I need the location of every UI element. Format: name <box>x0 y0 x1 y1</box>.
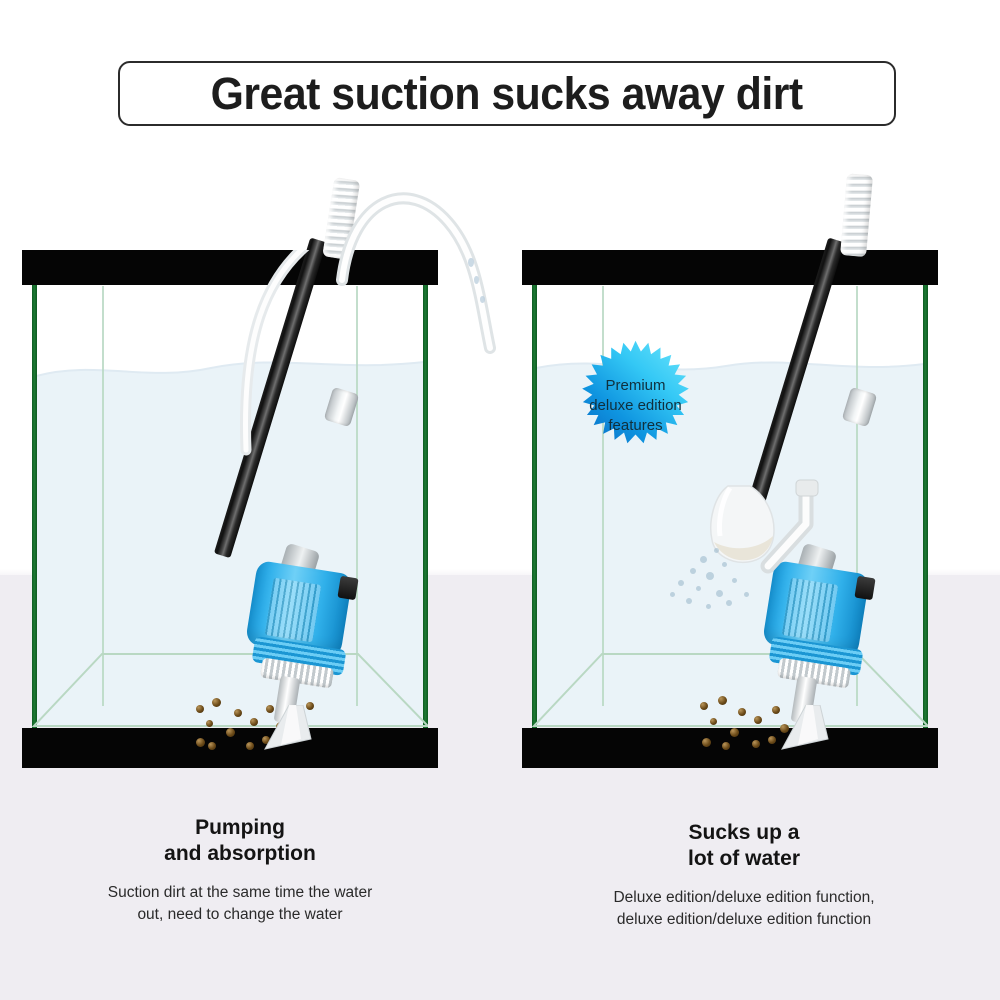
gravel-particle <box>730 728 739 737</box>
gravel-particle <box>226 728 235 737</box>
gravel-particle <box>722 742 730 750</box>
bubble <box>678 580 684 586</box>
gravel-particle <box>700 702 708 710</box>
filter-bag <box>698 478 818 588</box>
infographic-canvas: Great suction sucks away dirt <box>0 0 1000 1000</box>
gravel-particle <box>738 708 746 716</box>
caption-left-subtitle: Suction dirt at the same time the water … <box>40 882 440 926</box>
gravel-particle <box>208 742 216 750</box>
water-droplet <box>480 296 485 303</box>
caption-left: Pumping and absorption Suction dirt at t… <box>40 815 440 926</box>
gravel-particle <box>718 696 727 705</box>
gravel-particle <box>752 740 760 748</box>
caption-right: Sucks up a lot of water Deluxe edition/d… <box>544 820 944 931</box>
discharge-hose-outlet-left <box>330 160 520 360</box>
pump-switch-left[interactable] <box>337 576 358 601</box>
bubble <box>686 598 692 604</box>
bubble <box>670 592 675 597</box>
pump-unit-left <box>243 555 383 725</box>
bubble <box>732 578 737 583</box>
starburst-shape <box>568 338 703 473</box>
caption-left-title: Pumping and absorption <box>40 815 440 867</box>
caption-left-sub-line2: out, need to change the water <box>40 904 440 926</box>
caption-right-title: Sucks up a lot of water <box>544 820 944 872</box>
caption-right-title-line1: Sucks up a <box>544 820 944 846</box>
water-droplet <box>474 276 479 284</box>
bubble <box>690 568 696 574</box>
pump-vents-left <box>265 578 321 643</box>
bubble <box>722 562 727 567</box>
pump-switch-right[interactable] <box>854 576 875 601</box>
suction-nozzle-right <box>768 705 848 775</box>
bubble <box>700 556 707 563</box>
caption-right-sub-line2: deluxe edition/deluxe edition function <box>544 909 944 931</box>
bubble <box>714 548 719 553</box>
caption-right-subtitle: Deluxe edition/deluxe edition function, … <box>544 887 944 931</box>
bubble <box>744 592 749 597</box>
bubble <box>726 600 732 606</box>
bubble <box>706 604 711 609</box>
gravel-particle <box>196 738 205 747</box>
gravel-particle <box>710 718 717 725</box>
gravel-particle <box>702 738 711 747</box>
tank-rim-top-right <box>522 250 938 285</box>
suction-nozzle-left <box>251 705 331 775</box>
bubble <box>706 572 714 580</box>
premium-badge: Premium deluxe edition features <box>568 338 703 473</box>
water-droplet <box>468 258 474 267</box>
caption-left-title-line2: and absorption <box>40 841 440 867</box>
gravel-particle <box>196 705 204 713</box>
caption-left-title-line1: Pumping <box>40 815 440 841</box>
caption-right-sub-line1: Deluxe edition/deluxe edition function, <box>544 887 944 909</box>
gravel-particle <box>212 698 221 707</box>
gravel-particle <box>234 709 242 717</box>
page-title: Great suction sucks away dirt <box>211 68 803 120</box>
bubble <box>716 590 723 597</box>
title-banner: Great suction sucks away dirt <box>118 61 896 126</box>
caption-right-title-line2: lot of water <box>544 846 944 872</box>
bubble <box>696 586 701 591</box>
gravel-particle <box>206 720 213 727</box>
caption-left-sub-line1: Suction dirt at the same time the water <box>40 882 440 904</box>
